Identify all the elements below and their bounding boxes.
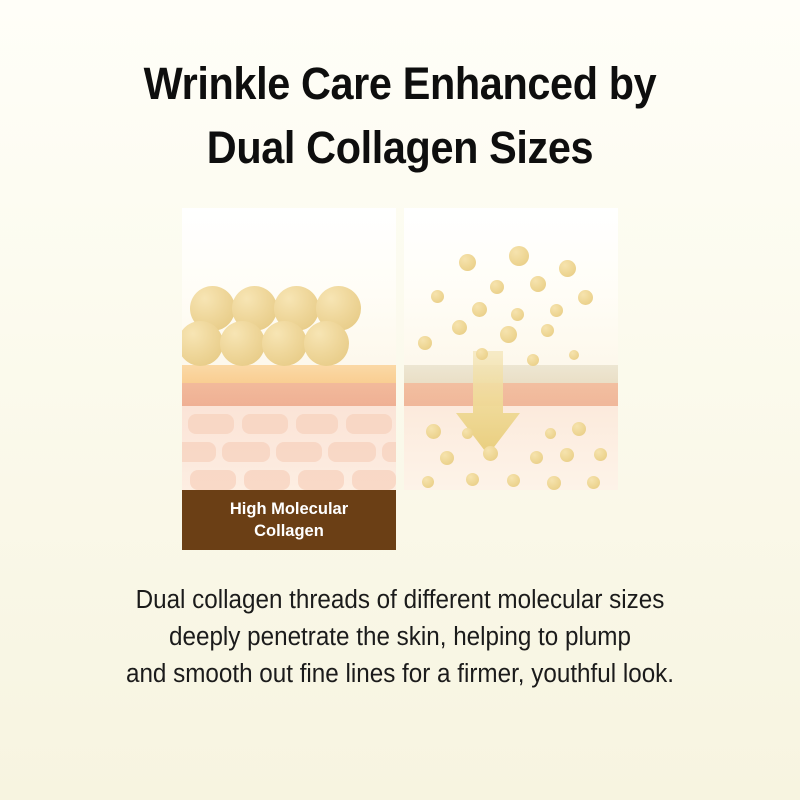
collagen-molecule-small-in-dermis [572,422,586,436]
penetration-arrow-icon [454,351,522,457]
dermis-cell [328,442,376,462]
dermis-cell [242,414,288,434]
dermis-cell [276,442,322,462]
collagen-molecule-small [452,320,467,335]
collagen-molecule-large [220,321,265,366]
description-line-3: and smooth out fine lines for a firmer, … [20,656,780,693]
panel-high-molecular: High Molecular Collagen [182,208,396,550]
collagen-molecule-small-in-dermis [462,428,473,439]
collagen-molecule-large [304,321,349,366]
collagen-molecule-small-in-dermis [587,476,600,489]
collagen-molecule-small-in-dermis [545,428,556,439]
description-line-1: Dual collagen threads of different molec… [20,582,780,619]
collagen-molecule-small-in-dermis [440,451,454,465]
description-line-2: deeply penetrate the skin, helping to pl… [20,619,780,656]
dermis-cell-group-left [182,406,396,490]
collagen-molecule-small [530,276,546,292]
dermis-cell [222,442,270,462]
collagen-molecule-small-in-dermis [507,474,520,487]
dermis-cell [182,442,216,462]
collagen-molecule-small [476,348,488,360]
page-title-line-1: Wrinkle Care Enhanced by [32,52,768,116]
skin-layer-epidermis-left [182,365,396,383]
collagen-molecule-small [500,326,517,343]
panel-ultra-low-molecular: Ultra-Low Molecular Collagen [404,208,618,550]
dermis-cell [298,470,344,490]
dermis-cell [352,470,396,490]
collagen-molecule-small-in-dermis [466,473,479,486]
label-high-molecular-line-1: High Molecular [230,500,348,518]
collagen-molecule-small [490,280,504,294]
dermis-cell [188,414,234,434]
collagen-molecule-small-in-dermis [426,424,441,439]
dermis-cell [382,442,396,462]
label-bar-high-molecular: High Molecular Collagen [182,490,396,550]
description-text: Dual collagen threads of different molec… [20,582,780,693]
collagen-molecule-small-in-dermis [422,476,434,488]
collagen-molecule-small [418,336,432,350]
collagen-molecule-small [578,290,593,305]
collagen-molecule-small-in-dermis [483,446,498,461]
label-high-molecular-line-2: Collagen [254,522,324,540]
dermis-cell [244,470,290,490]
collagen-molecule-large [262,321,307,366]
collagen-molecule-small [472,302,487,317]
skin-layer-papillary-left [182,383,396,406]
collagen-molecule-small [550,304,563,317]
collagen-molecule-small [431,290,444,303]
collagen-molecule-small [509,246,529,266]
collagen-molecule-small [459,254,476,271]
collagen-molecule-small [527,354,539,366]
collagen-molecule-small [559,260,576,277]
collagen-molecule-small [569,350,579,360]
dermis-cell [296,414,338,434]
collagen-molecule-small-in-dermis [530,451,543,464]
collagen-molecule-small-in-dermis [547,476,561,490]
dermis-cell [346,414,392,434]
dermis-cell [190,470,236,490]
collagen-molecule-small [511,308,524,321]
collagen-molecule-small-in-dermis [594,448,607,461]
collagen-molecule-small-in-dermis [560,448,574,462]
collagen-molecule-small [541,324,554,337]
collagen-comparison-diagram: High Molecular Collagen [182,208,618,550]
skin-layer-dermis-left [182,406,396,490]
page-title: Wrinkle Care Enhanced by Dual Collagen S… [32,52,768,180]
page-title-line-2: Dual Collagen Sizes [32,116,768,180]
